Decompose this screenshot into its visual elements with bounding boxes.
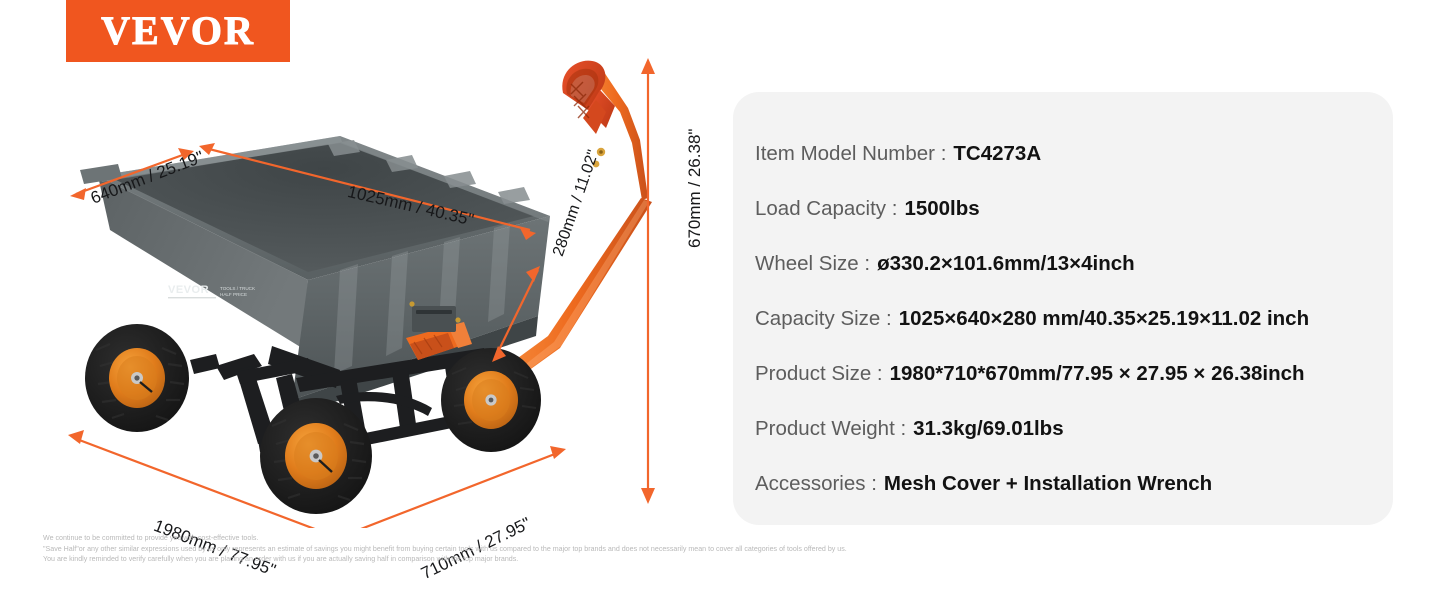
vevor-logo-text: VEVOR xyxy=(101,11,255,51)
spec-value: Mesh Cover + Installation Wrench xyxy=(884,456,1212,511)
wheel-rear-left xyxy=(85,324,189,432)
spec-label: Load Capacity : xyxy=(755,181,897,236)
wheel-front-right xyxy=(441,348,541,452)
svg-text:HALF PRICE: HALF PRICE xyxy=(220,292,247,297)
spec-row: Item Model Number : TC4273A xyxy=(733,126,1393,181)
spec-value: 1025×640×280 mm/40.35×25.19×11.02 inch xyxy=(899,291,1309,346)
disclaimer-line-3: You are kindly reminded to verify carefu… xyxy=(43,554,1283,565)
specification-panel: Item Model Number : TC4273A Load Capacit… xyxy=(733,92,1393,525)
spec-row: Load Capacity : 1500lbs xyxy=(733,181,1393,236)
spec-value: 1500lbs xyxy=(904,181,979,236)
svg-text:VEVOR: VEVOR xyxy=(168,284,209,296)
spec-value: 1980*710*670mm/77.95 × 27.95 × 26.38inch xyxy=(890,346,1305,401)
product-illustration: VEVOR TOOLS / TRUCK HALF PRICE xyxy=(40,48,730,528)
disclaimer-line-1: We continue to be committed to provide y… xyxy=(43,533,1283,544)
spec-label: Accessories : xyxy=(755,456,877,511)
spec-value: ø330.2×101.6mm/13×4inch xyxy=(877,236,1135,291)
spec-label: Wheel Size : xyxy=(755,236,870,291)
svg-text:TOOLS / TRUCK: TOOLS / TRUCK xyxy=(220,286,256,291)
spec-row: Product Weight : 31.3kg/69.01lbs xyxy=(733,401,1393,456)
spec-row: Accessories : Mesh Cover + Installation … xyxy=(733,456,1393,511)
spec-label: Product Weight : xyxy=(755,401,906,456)
dimension-label-height: 670mm / 26.38" xyxy=(685,129,705,248)
wheel-rear-right xyxy=(260,398,372,514)
disclaimer: We continue to be committed to provide y… xyxy=(43,533,1283,565)
spec-label: Capacity Size : xyxy=(755,291,892,346)
spec-row: Wheel Size : ø330.2×101.6mm/13×4inch xyxy=(733,236,1393,291)
spec-label: Product Size : xyxy=(755,346,883,401)
spec-label: Item Model Number : xyxy=(755,126,946,181)
spec-row: Capacity Size : 1025×640×280 mm/40.35×25… xyxy=(733,291,1393,346)
spec-row: Product Size : 1980*710*670mm/77.95 × 27… xyxy=(733,346,1393,401)
disclaimer-line-2: "Save Half"or any other similar expressi… xyxy=(43,544,1283,555)
spec-value: TC4273A xyxy=(953,126,1041,181)
product-spec-sheet: VEVOR xyxy=(0,0,1445,592)
spec-value: 31.3kg/69.01lbs xyxy=(913,401,1063,456)
